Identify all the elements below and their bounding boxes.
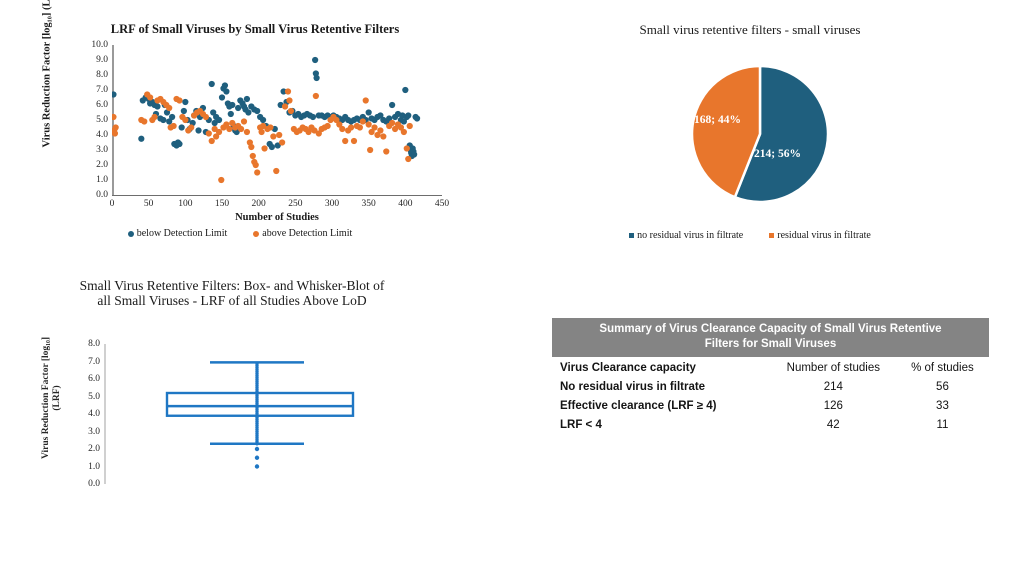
scatter-x-tick: 250: [275, 199, 315, 209]
summary-table: Virus Clearance capacityNumber of studie…: [552, 359, 989, 435]
scatter-y-axis-label: Virus Reduction Factor [log₁₀] (LRF): [42, 0, 53, 148]
table-cell: Effective clearance (LRF ≥ 4): [552, 397, 771, 416]
summary-table-panel: Summary of Virus Clearance Capacity of S…: [552, 318, 989, 443]
scatter-point: [339, 126, 345, 132]
scatter-x-tick: 400: [385, 199, 425, 209]
scatter-point: [260, 117, 266, 123]
scatter-x-tick: 450: [422, 199, 462, 209]
scatter-point: [245, 109, 251, 115]
scatter-point: [254, 108, 260, 114]
scatter-point: [371, 124, 377, 130]
scatter-y-axis-ticks: 10.09.08.07.06.05.04.03.02.01.00.0: [70, 45, 108, 195]
table-column-header-row: Virus Clearance capacityNumber of studie…: [552, 359, 989, 378]
boxplot-graphic-svg: [105, 344, 410, 484]
scatter-plot-area: [112, 45, 442, 195]
scatter-point: [160, 117, 166, 123]
scatter-point: [282, 103, 288, 109]
pie-slices-svg: [680, 52, 840, 217]
summary-table-header: Summary of Virus Clearance Capacity of S…: [552, 318, 989, 357]
scatter-y-tick: 2.0: [72, 160, 108, 170]
table-row: Effective clearance (LRF ≥ 4)12633: [552, 397, 989, 416]
scatter-point: [407, 123, 413, 129]
scatter-point: [366, 109, 372, 115]
legend-item-above-detection-limit[interactable]: above Detection Limit: [253, 228, 352, 239]
table-row: LRF < 44211: [552, 416, 989, 435]
boxplot-title-line2: all Small Viruses - LRF of all Studies A…: [32, 293, 432, 308]
scatter-point: [383, 148, 389, 154]
scatter-point: [228, 111, 234, 117]
scatter-point: [389, 102, 395, 108]
scatter-point: [389, 120, 395, 126]
scatter-x-tick: 100: [165, 199, 205, 209]
scatter-point: [377, 127, 383, 133]
scatter-point: [261, 145, 267, 151]
scatter-point: [279, 139, 285, 145]
scatter-point: [113, 124, 119, 130]
table-cell: 214: [771, 378, 896, 397]
legend-item-no-residual-virus[interactable]: no residual virus in filtrate: [629, 230, 743, 241]
scatter-point: [286, 97, 292, 103]
scatter-point: [171, 123, 177, 129]
scatter-point: [414, 115, 420, 121]
scatter-point: [380, 133, 386, 139]
scatter-point: [244, 96, 250, 102]
scatter-point: [342, 138, 348, 144]
scatter-point: [166, 105, 172, 111]
scatter-point: [216, 129, 222, 135]
legend-marker-square-icon: [769, 233, 774, 238]
boxplot-title-line1: Small Virus Retentive Filters: Box- and …: [32, 278, 432, 293]
scatter-x-tick: 200: [239, 199, 279, 209]
boxplot-y-tick: 6.0: [64, 374, 100, 384]
boxplot-plot-area: [105, 344, 410, 484]
scatter-point: [195, 127, 201, 133]
boxplot-outlier-point: [255, 456, 259, 460]
scatter-point: [209, 81, 215, 87]
scatter-point: [360, 118, 366, 124]
scatter-point: [203, 114, 209, 120]
boxplot-y-tick: 0.0: [64, 479, 100, 489]
scatter-point: [363, 97, 369, 103]
scatter-point: [367, 147, 373, 153]
scatter-point: [366, 121, 372, 127]
legend-item-below-detection-limit[interactable]: below Detection Limit: [128, 228, 228, 239]
table-cell: 11: [896, 416, 989, 435]
scatter-point: [223, 88, 229, 94]
summary-table-header-line1: Summary of Virus Clearance Capacity of S…: [582, 322, 959, 337]
table-cell: 33: [896, 397, 989, 416]
scatter-point: [181, 108, 187, 114]
scatter-x-axis-ticks: 050100150200250300350400450: [112, 199, 442, 213]
scatter-point: [112, 130, 118, 136]
scatter-point: [312, 57, 318, 63]
scatter-point: [147, 94, 153, 100]
boxplot-y-tick: 2.0: [64, 444, 100, 454]
scatter-point: [182, 99, 188, 105]
scatter-point: [112, 91, 117, 97]
table-column-header: Number of studies: [771, 359, 896, 378]
scatter-point: [248, 144, 254, 150]
scatter-x-tick: 350: [349, 199, 389, 209]
pie-graphic: 214; 56% 168; 44%: [680, 52, 840, 217]
pie-chart-panel: Small virus retentive filters - small vi…: [540, 12, 960, 257]
legend-item-residual-virus[interactable]: residual virus in filtrate: [769, 230, 871, 241]
scatter-x-axis-line: [112, 195, 442, 196]
boxplot-outlier-point: [255, 447, 259, 451]
scatter-point: [151, 114, 157, 120]
scatter-point: [179, 124, 185, 130]
scatter-x-tick: 50: [129, 199, 169, 209]
scatter-point: [288, 108, 294, 114]
scatter-point: [235, 105, 241, 111]
scatter-point: [405, 112, 411, 118]
scatter-point: [259, 129, 265, 135]
boxplot-y-axis-label-line1: Virus Reduction Factor [log₁₀]: [41, 318, 52, 478]
scatter-point: [138, 136, 144, 142]
table-cell: 56: [896, 378, 989, 397]
scatter-point: [348, 124, 354, 130]
scatter-point: [216, 117, 222, 123]
scatter-point: [182, 117, 188, 123]
scatter-point: [218, 177, 224, 183]
scatter-point: [176, 141, 182, 147]
scatter-point: [176, 97, 182, 103]
scatter-point: [238, 126, 244, 132]
scatter-point: [325, 123, 331, 129]
boxplot-title: Small Virus Retentive Filters: Box- and …: [32, 278, 432, 308]
scatter-point: [357, 124, 363, 130]
scatter-x-tick: 0: [92, 199, 132, 209]
boxplot-y-tick: 3.0: [64, 427, 100, 437]
legend-label: residual virus in filtrate: [777, 230, 871, 241]
scatter-y-tick: 5.0: [72, 115, 108, 125]
scatter-point: [222, 82, 228, 88]
summary-table-header-line2: Filters for Small Viruses: [582, 337, 959, 352]
scatter-point: [229, 102, 235, 108]
legend-label: above Detection Limit: [262, 228, 352, 239]
scatter-y-tick: 6.0: [72, 100, 108, 110]
legend-label: no residual virus in filtrate: [637, 230, 743, 241]
boxplot-y-tick: 5.0: [64, 392, 100, 402]
scatter-point: [401, 129, 407, 135]
boxplot-y-tick: 1.0: [64, 462, 100, 472]
scatter-point: [188, 124, 194, 130]
scatter-point: [267, 124, 273, 130]
legend-marker-square-icon: [629, 233, 634, 238]
scatter-chart-panel: LRF of Small Viruses by Small Virus Rete…: [30, 12, 470, 262]
boxplot-y-tick: 7.0: [64, 357, 100, 367]
scatter-y-tick: 9.0: [72, 55, 108, 65]
scatter-point: [351, 138, 357, 144]
scatter-point: [285, 88, 291, 94]
scatter-point: [244, 129, 250, 135]
scatter-point: [209, 138, 215, 144]
scatter-point: [411, 151, 417, 157]
scatter-y-tick: 7.0: [72, 85, 108, 95]
scatter-point: [254, 169, 260, 175]
boxplot-data-point: [255, 362, 258, 365]
scatter-legend: below Detection Limit above Detection Li…: [30, 228, 450, 239]
boxplot-y-axis-label: Virus Reduction Factor [log₁₀] (LRF): [41, 318, 63, 478]
table-row: No residual virus in filtrate21456: [552, 378, 989, 397]
scatter-point: [270, 133, 276, 139]
scatter-point: [250, 153, 256, 159]
boxplot-panel: Small Virus Retentive Filters: Box- and …: [20, 272, 450, 527]
scatter-y-tick: 10.0: [72, 40, 108, 50]
table-cell: No residual virus in filtrate: [552, 378, 771, 397]
scatter-x-tick: 150: [202, 199, 242, 209]
scatter-x-axis-label: Number of Studies: [112, 212, 442, 223]
scatter-y-tick: 3.0: [72, 145, 108, 155]
scatter-point: [219, 94, 225, 100]
scatter-point: [141, 118, 147, 124]
scatter-point: [169, 114, 175, 120]
pie-slice-label-orange: 168; 44%: [694, 114, 741, 126]
scatter-point: [253, 162, 259, 168]
legend-label: below Detection Limit: [137, 228, 228, 239]
scatter-point: [226, 126, 232, 132]
scatter-y-tick: 8.0: [72, 70, 108, 80]
scatter-chart-title: LRF of Small Viruses by Small Virus Rete…: [60, 22, 450, 37]
table-column-header: % of studies: [896, 359, 989, 378]
scatter-point: [402, 87, 408, 93]
scatter-point: [404, 145, 410, 151]
boxplot-y-tick: 4.0: [64, 409, 100, 419]
scatter-point: [154, 103, 160, 109]
legend-marker-circle-icon: [253, 231, 259, 237]
scatter-point: [405, 156, 411, 162]
scatter-point: [310, 114, 316, 120]
scatter-point: [314, 75, 320, 81]
scatter-y-tick: 1.0: [72, 175, 108, 185]
boxplot-outlier-point: [255, 464, 259, 468]
pie-slice-label-blue: 214; 56%: [754, 148, 801, 160]
scatter-point: [112, 114, 117, 120]
boxplot-box: [167, 393, 353, 416]
scatter-point: [269, 144, 275, 150]
legend-marker-circle-icon: [128, 231, 134, 237]
pie-chart-title: Small virus retentive filters - small vi…: [550, 22, 950, 37]
scatter-point: [273, 168, 279, 174]
scatter-point: [313, 93, 319, 99]
boxplot-y-axis-ticks: 8.07.06.05.04.03.02.01.00.0: [62, 344, 100, 484]
boxplot-y-tick: 8.0: [64, 339, 100, 349]
scatter-point: [206, 130, 212, 136]
scatter-x-tick: 300: [312, 199, 352, 209]
scatter-point: [241, 118, 247, 124]
table-column-header: Virus Clearance capacity: [552, 359, 771, 378]
table-cell: LRF < 4: [552, 416, 771, 435]
scatter-points-svg: [112, 45, 442, 195]
scatter-point: [276, 132, 282, 138]
table-cell: 42: [771, 416, 896, 435]
scatter-y-tick: 4.0: [72, 130, 108, 140]
pie-legend: no residual virus in filtrate residual v…: [555, 230, 945, 241]
table-cell: 126: [771, 397, 896, 416]
